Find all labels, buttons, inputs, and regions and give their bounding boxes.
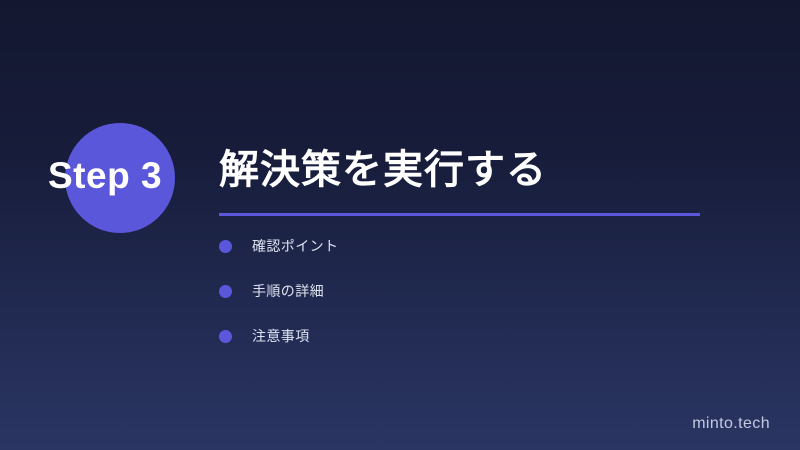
list-item: 注意事項 [219,326,338,346]
list-item-label: 確認ポイント [252,236,338,256]
slide-canvas: Step 3 解決策を実行する 確認ポイント 手順の詳細 注意事項 minto.… [0,0,800,450]
title-divider [219,213,700,216]
list-item-label: 注意事項 [252,326,310,346]
watermark-branding: minto.tech [692,415,770,433]
bullet-dot-icon [219,330,232,343]
list-item-label: 手順の詳細 [252,281,324,301]
bullet-dot-icon [219,240,232,253]
list-item: 手順の詳細 [219,281,338,301]
step-badge-label: Step 3 [48,152,208,200]
page-title: 解決策を実行する [219,146,547,194]
bullet-list: 確認ポイント 手順の詳細 注意事項 [219,236,338,346]
list-item: 確認ポイント [219,236,338,256]
bullet-dot-icon [219,285,232,298]
